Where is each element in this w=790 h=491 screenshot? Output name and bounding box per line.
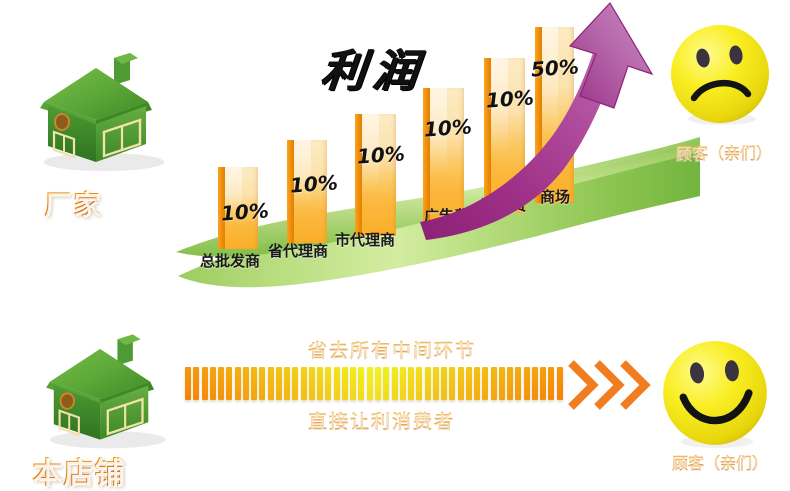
flow-tick — [524, 367, 530, 400]
bar-category-label: 市代理商 — [335, 229, 395, 250]
bar-value-label: 10% — [356, 141, 405, 168]
flow-tick — [243, 367, 249, 400]
flow-tick — [433, 367, 439, 400]
flow-tick — [532, 367, 538, 400]
customer-label-sad: 顾客（亲们） — [676, 140, 772, 164]
flow-tick — [458, 367, 464, 400]
flow-tick — [292, 367, 298, 400]
flow-tick — [540, 367, 546, 400]
flow-tick — [226, 367, 232, 400]
flow-tick — [557, 367, 563, 400]
flow-tick — [400, 367, 406, 400]
flow-tick — [325, 367, 331, 400]
flow-tick — [499, 367, 505, 400]
flow-tick — [408, 367, 414, 400]
flow-tick — [375, 367, 381, 400]
profit-title: 利润 — [319, 35, 430, 99]
growth-arrow — [420, 0, 680, 240]
bar-edge — [355, 114, 362, 236]
factory-label: 厂家 — [44, 183, 102, 222]
flow-text-bottom: 直接让利消费者 — [308, 407, 455, 434]
flow-tick — [548, 367, 554, 400]
flow-tick — [210, 367, 216, 400]
flow-tick — [466, 367, 472, 400]
flow-tick — [251, 367, 257, 400]
flow-text-top: 省去所有中间环节 — [308, 336, 476, 363]
house-shop-icon — [22, 322, 182, 457]
customer-label-happy: 顾客（亲们） — [672, 450, 768, 474]
sad-face-icon — [668, 22, 772, 130]
flow-tick — [449, 367, 455, 400]
bar-category-label: 总批发商 — [200, 250, 260, 271]
flow-tick — [301, 367, 307, 400]
flow-tick — [383, 367, 389, 400]
flow-tick — [309, 367, 315, 400]
shop-label: 本店铺 — [32, 448, 125, 491]
flow-tick — [491, 367, 497, 400]
bar-value-label: 10% — [289, 170, 338, 197]
flow-tick — [441, 367, 447, 400]
infographic-canvas: 10% 总批发商 10% 省代理商 10% 市代理商 10% 广告费 — [0, 0, 790, 491]
flow-tick — [358, 367, 364, 400]
direct-flow-ticks — [185, 367, 565, 400]
happy-face-icon — [660, 338, 770, 452]
flow-tick — [342, 367, 348, 400]
flow-tick — [235, 367, 241, 400]
flow-tick — [507, 367, 513, 400]
flow-tick — [515, 367, 521, 400]
bar-category-label: 省代理商 — [268, 240, 328, 261]
flow-tick — [218, 367, 224, 400]
flow-tick — [185, 367, 191, 400]
flow-tick — [416, 367, 422, 400]
bar-value-label: 10% — [220, 198, 269, 225]
flow-tick — [474, 367, 480, 400]
flow-tick — [268, 367, 274, 400]
house-factory-icon — [18, 40, 178, 180]
flow-tick — [259, 367, 265, 400]
flow-tick — [392, 367, 398, 400]
flow-tick — [367, 367, 373, 400]
flow-tick — [317, 367, 323, 400]
flow-tick — [193, 367, 199, 400]
flow-tick — [482, 367, 488, 400]
bar-column — [355, 114, 396, 236]
flow-tick — [202, 367, 208, 400]
flow-tick — [350, 367, 356, 400]
flow-tick — [425, 367, 431, 400]
bar-gloss — [362, 114, 379, 236]
flow-tick — [276, 367, 282, 400]
flow-tick — [284, 367, 290, 400]
flow-tick — [334, 367, 340, 400]
chevron-arrows — [565, 357, 655, 413]
